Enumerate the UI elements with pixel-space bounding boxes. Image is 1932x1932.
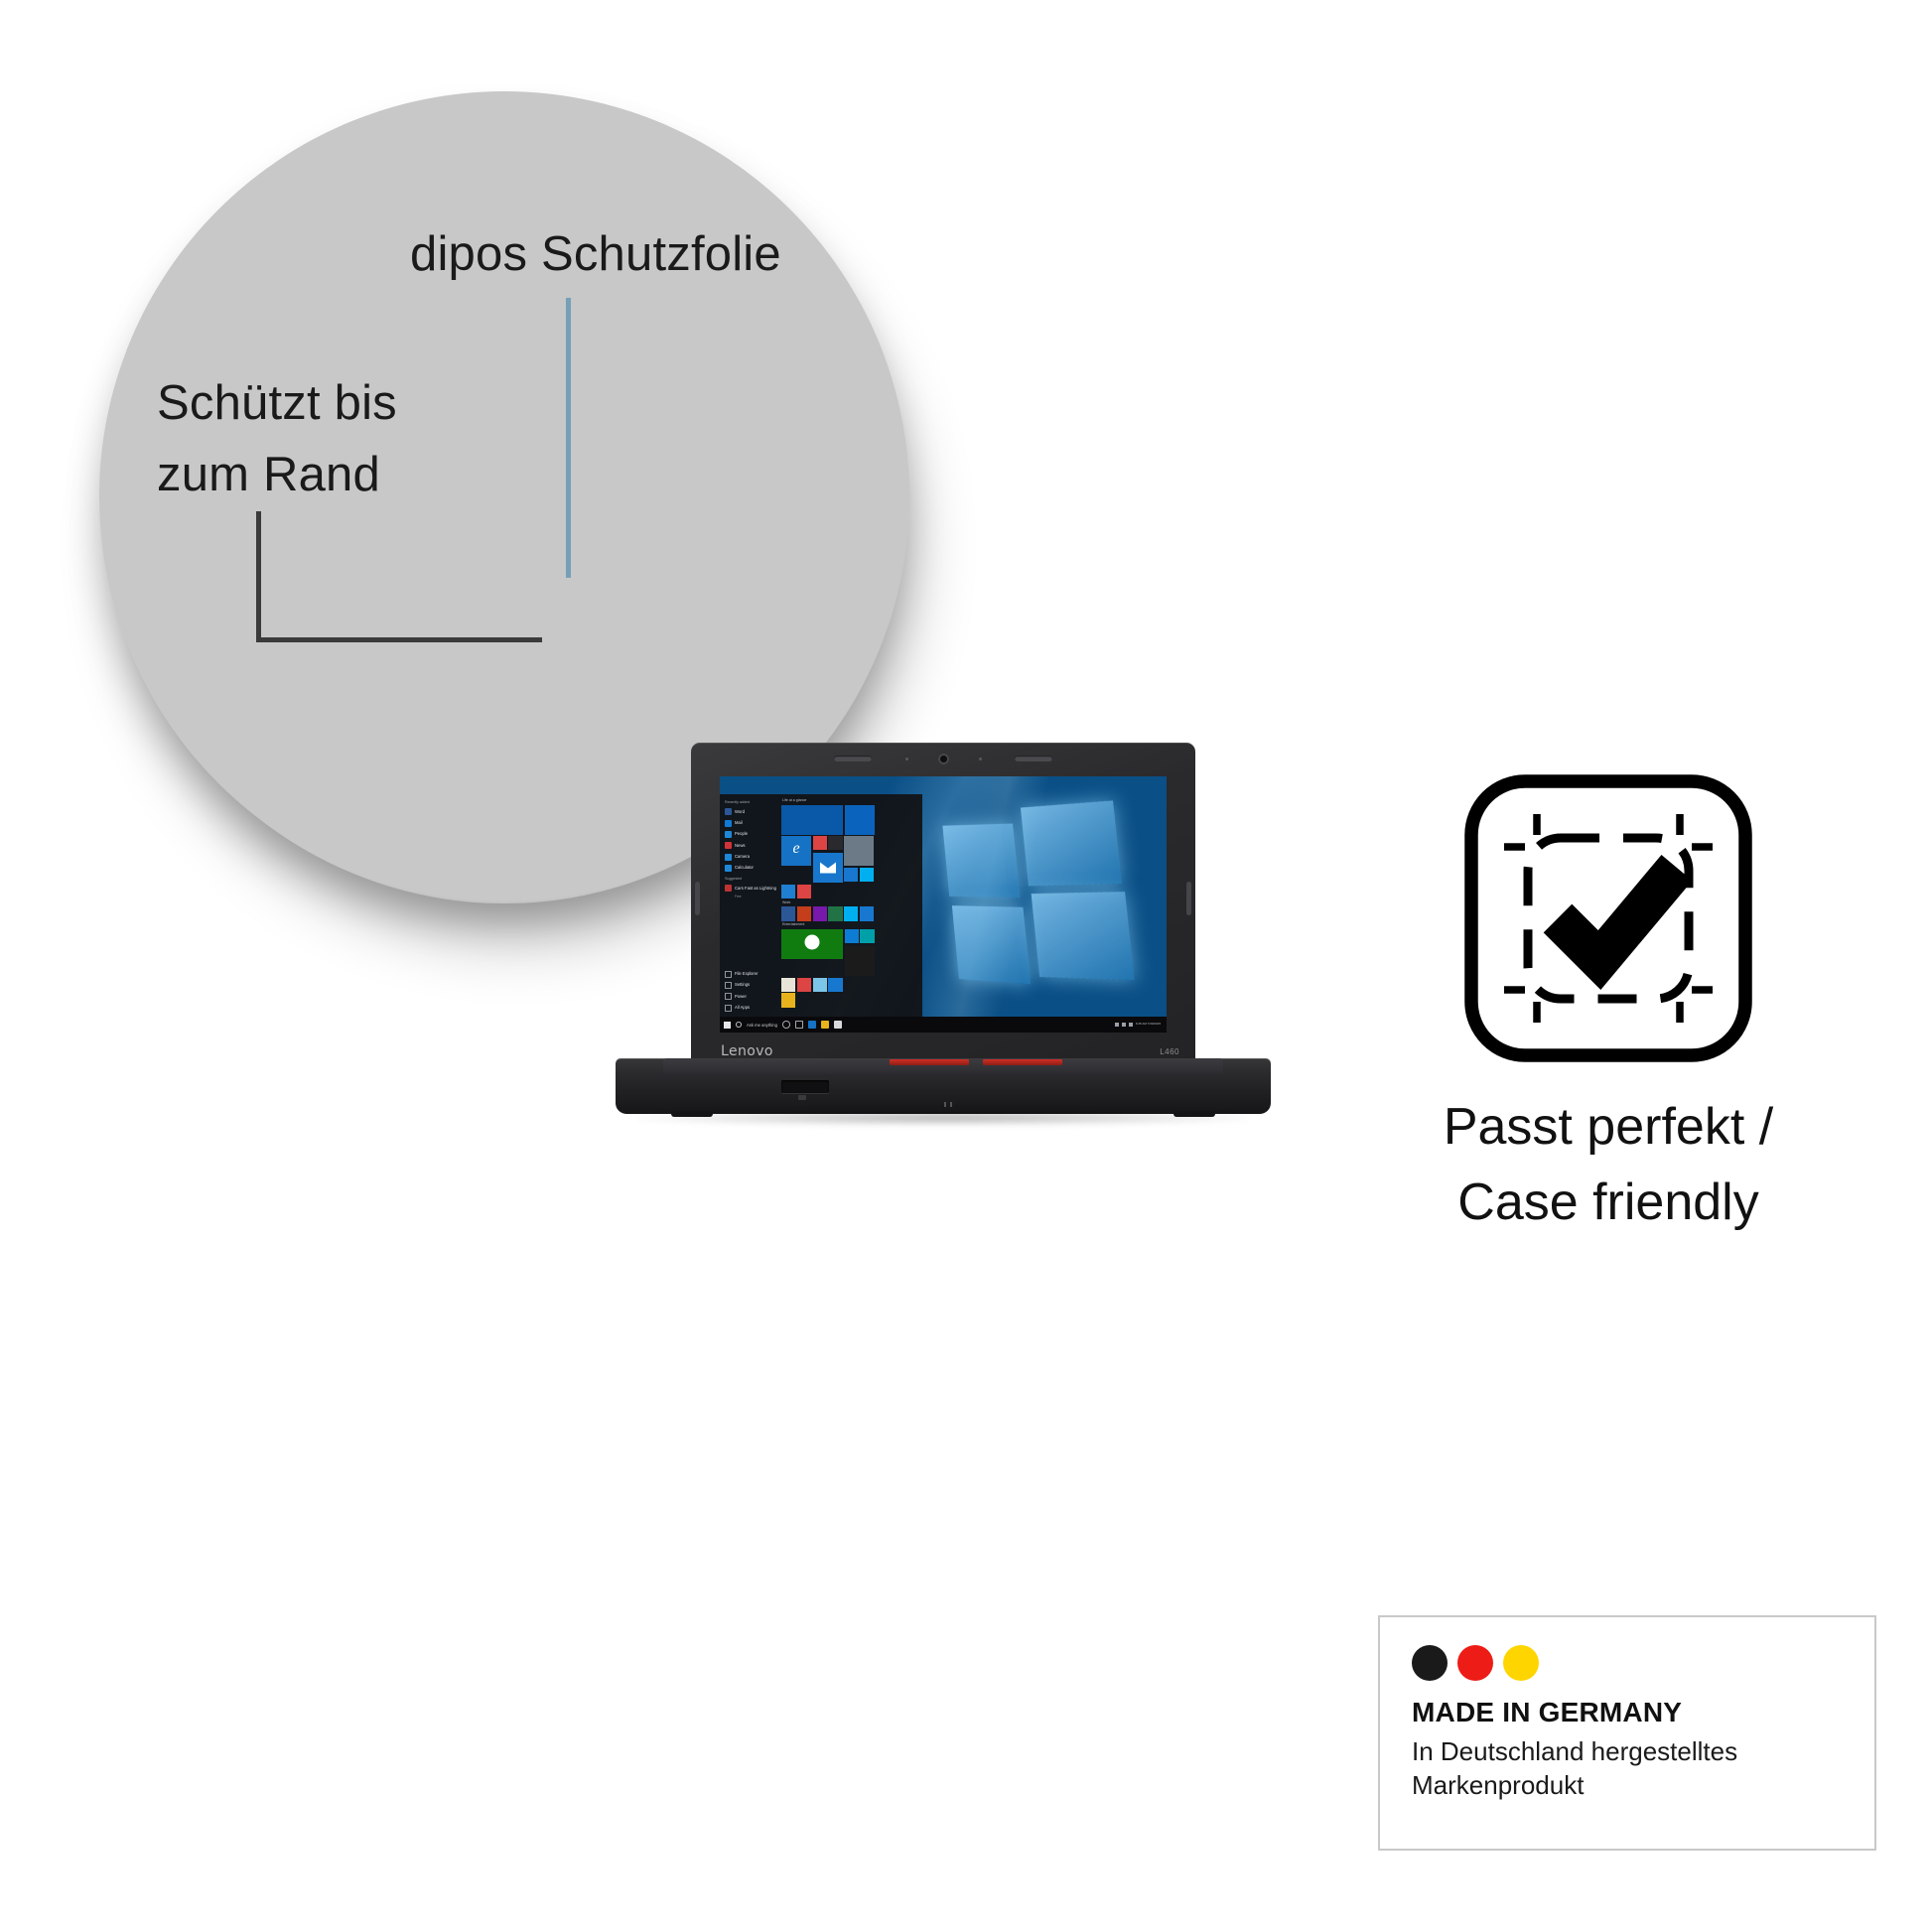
tile-contact[interactable] bbox=[797, 885, 811, 898]
folder-icon bbox=[725, 971, 732, 978]
tile-xbox[interactable] bbox=[781, 929, 843, 959]
tile-row[interactable] bbox=[781, 885, 919, 898]
laptop-base bbox=[616, 1058, 1271, 1114]
lid-vent-right bbox=[1015, 756, 1052, 761]
tile-photos[interactable] bbox=[844, 836, 874, 866]
lenovo-logo: Lenovo bbox=[721, 1043, 773, 1059]
start-menu-tiles[interactable]: Life at a glance e bbox=[777, 794, 922, 1017]
tile-microsoft-edge[interactable]: e bbox=[781, 836, 811, 866]
edge-icon: e bbox=[792, 840, 799, 858]
tile-people[interactable] bbox=[781, 885, 795, 898]
tile-row[interactable] bbox=[781, 805, 919, 835]
cortana-icon[interactable] bbox=[782, 1021, 790, 1029]
side-vent-right bbox=[1186, 882, 1191, 915]
tile-row[interactable] bbox=[844, 868, 874, 882]
start-suggested-item[interactable]: Cars Fast as Lightning bbox=[720, 883, 777, 894]
lid-vent-left bbox=[834, 756, 872, 761]
leader-line-blue bbox=[566, 298, 571, 578]
tile-cortana-welcome[interactable] bbox=[781, 805, 843, 835]
card-reader-slot bbox=[781, 1080, 829, 1093]
yellow-dot bbox=[1503, 1645, 1539, 1681]
gear-icon bbox=[725, 982, 732, 989]
tray-battery-icon[interactable] bbox=[1129, 1023, 1133, 1027]
xbox-icon bbox=[805, 935, 820, 950]
tile-row[interactable] bbox=[781, 906, 919, 920]
search-icon[interactable] bbox=[736, 1022, 742, 1028]
word-icon bbox=[725, 808, 732, 815]
touchpad-accent-right bbox=[983, 1059, 1062, 1065]
tile-row[interactable] bbox=[781, 993, 919, 1007]
start-suggested-label: Cars Fast as Lightning bbox=[735, 887, 776, 891]
start-section-suggested: Suggested bbox=[720, 874, 777, 883]
tile-column[interactable] bbox=[844, 836, 874, 883]
people-icon bbox=[725, 831, 732, 838]
start-app-label: Mail bbox=[735, 821, 743, 825]
tile-disney[interactable] bbox=[828, 978, 842, 992]
tile-row[interactable]: e bbox=[781, 836, 919, 883]
camera-icon bbox=[725, 854, 732, 861]
case-friendly-label: Passt perfekt / Case friendly bbox=[1320, 1089, 1896, 1240]
mail-icon bbox=[725, 820, 732, 827]
webcam-icon bbox=[938, 754, 949, 764]
status-led-left bbox=[944, 1102, 946, 1107]
tile-group-title: Entertainment bbox=[782, 922, 919, 926]
start-button-icon[interactable] bbox=[724, 1022, 731, 1029]
case-friendly-feature: Passt perfekt / Case friendly bbox=[1320, 769, 1896, 1240]
edge-protection-label: Schützt bis zum Rand bbox=[157, 367, 397, 510]
tile-game-2[interactable] bbox=[781, 993, 795, 1007]
tile-word[interactable] bbox=[781, 906, 795, 920]
start-app-people[interactable]: People bbox=[720, 829, 777, 840]
tile-mail[interactable] bbox=[813, 853, 843, 883]
start-app-label: Camera bbox=[735, 855, 750, 859]
tray-volume-icon[interactable] bbox=[1122, 1023, 1126, 1027]
start-app-calculator[interactable]: Calculator bbox=[720, 863, 777, 874]
tile-halo[interactable] bbox=[845, 946, 875, 976]
tile-row[interactable] bbox=[845, 929, 875, 943]
tile-row[interactable] bbox=[781, 978, 919, 992]
system-tray[interactable]: 9:45 AM 7/30/2015 bbox=[1115, 1023, 1163, 1027]
side-vent-left bbox=[695, 882, 700, 915]
product-label: dipos Schutzfolie bbox=[410, 226, 781, 282]
windows-pane bbox=[1032, 892, 1135, 980]
tile-row[interactable] bbox=[781, 929, 919, 976]
laptop-product-image: Recently added Word Mail People bbox=[616, 743, 1271, 1130]
start-menu-system-list[interactable]: File Explorer Settings Power All Ap bbox=[720, 969, 777, 1018]
start-app-camera[interactable]: Camera bbox=[720, 852, 777, 863]
windows-logo-icon bbox=[942, 796, 1134, 990]
start-section-title: Recently added bbox=[720, 797, 777, 806]
game-icon bbox=[725, 885, 732, 892]
start-suggested-price: Free bbox=[720, 895, 777, 898]
tile-movies[interactable] bbox=[860, 929, 874, 943]
tile-frozen[interactable] bbox=[813, 978, 827, 992]
laptop-lid: Recently added Word Mail People bbox=[691, 743, 1195, 1072]
envelope-icon bbox=[820, 862, 836, 873]
laptop-bezel-top bbox=[691, 743, 1195, 772]
start-system-label: File Explorer bbox=[735, 972, 759, 976]
windows-pane bbox=[1021, 800, 1122, 886]
red-dot bbox=[1457, 1645, 1493, 1681]
search-input[interactable]: Ask me anything bbox=[747, 1023, 777, 1028]
tile-column[interactable] bbox=[845, 929, 875, 976]
edge-taskbar-icon[interactable] bbox=[808, 1021, 816, 1029]
start-file-explorer[interactable]: File Explorer bbox=[720, 969, 777, 980]
tile-weather[interactable] bbox=[828, 836, 842, 850]
taskbar-clock[interactable]: 9:45 AM 7/30/2015 bbox=[1136, 1023, 1161, 1026]
windows-pane bbox=[952, 905, 1031, 984]
start-settings[interactable]: Settings bbox=[720, 980, 777, 991]
power-icon bbox=[725, 993, 732, 1000]
start-app-label: News bbox=[735, 844, 745, 848]
microphone-right-icon bbox=[979, 758, 982, 760]
made-in-germany-title: MADE IN GERMANY bbox=[1412, 1697, 1874, 1728]
windows-pane bbox=[942, 824, 1020, 898]
task-view-icon[interactable] bbox=[795, 1021, 803, 1029]
tile-column[interactable] bbox=[813, 836, 843, 883]
start-menu-app-list[interactable]: Recently added Word Mail People bbox=[720, 794, 777, 1017]
status-led-right bbox=[950, 1102, 952, 1107]
german-flag-dots bbox=[1412, 1645, 1874, 1681]
tile-office[interactable] bbox=[844, 868, 858, 882]
tile-candy-crush[interactable] bbox=[781, 978, 795, 992]
made-in-germany-badge: MADE IN GERMANY In Deutschland hergestel… bbox=[1378, 1615, 1876, 1851]
start-app-label: Calculator bbox=[735, 866, 754, 870]
tile-store[interactable] bbox=[860, 906, 874, 920]
tile-game[interactable] bbox=[797, 978, 811, 992]
start-app-word[interactable]: Word bbox=[720, 806, 777, 817]
card-slot-icon bbox=[798, 1095, 806, 1100]
tile-twitter[interactable] bbox=[860, 868, 874, 882]
start-app-mail[interactable]: Mail bbox=[720, 817, 777, 828]
tile-cortana-calendar[interactable] bbox=[845, 805, 875, 835]
laptop-drop-shadow bbox=[637, 1110, 1249, 1126]
tile-groove[interactable] bbox=[845, 929, 859, 943]
calculator-icon bbox=[725, 865, 732, 872]
store-icon[interactable] bbox=[834, 1021, 842, 1029]
laptop-model-label: L460 bbox=[1160, 1047, 1179, 1056]
tile-row[interactable] bbox=[813, 836, 843, 850]
laptop-screen: Recently added Word Mail People bbox=[720, 776, 1167, 1033]
tile-news[interactable] bbox=[813, 836, 827, 850]
start-app-label: Word bbox=[735, 810, 745, 814]
tile-excel[interactable] bbox=[828, 906, 842, 920]
start-app-news[interactable]: News bbox=[720, 840, 777, 851]
tray-network-icon[interactable] bbox=[1115, 1023, 1119, 1027]
start-menu[interactable]: Recently added Word Mail People bbox=[720, 794, 922, 1017]
start-power[interactable]: Power bbox=[720, 991, 777, 1002]
microphone-left-icon bbox=[905, 758, 908, 760]
start-app-label: People bbox=[735, 832, 748, 836]
windows-taskbar[interactable]: Ask me anything 9:45 AM 7/30/2015 bbox=[720, 1017, 1167, 1033]
tile-group-title: Life at a glance bbox=[782, 798, 919, 802]
tile-powerpoint[interactable] bbox=[797, 906, 811, 920]
black-dot bbox=[1412, 1645, 1448, 1681]
list-icon bbox=[725, 1005, 732, 1012]
laptop-keyboard-deck bbox=[663, 1058, 1223, 1074]
start-all-apps[interactable]: All Apps bbox=[720, 1003, 777, 1014]
file-explorer-icon[interactable] bbox=[821, 1021, 829, 1029]
case-friendly-checkmark-icon bbox=[1459, 769, 1757, 1067]
tile-onenote[interactable] bbox=[813, 906, 827, 920]
corner-bracket-indicator bbox=[256, 511, 542, 642]
tile-skype[interactable] bbox=[844, 906, 858, 920]
start-system-label: Power bbox=[735, 995, 747, 999]
news-icon bbox=[725, 842, 732, 849]
start-system-label: All Apps bbox=[735, 1006, 750, 1010]
touchpad-accent-left bbox=[890, 1059, 969, 1065]
start-system-label: Settings bbox=[735, 983, 750, 987]
tile-group-title: Work bbox=[782, 900, 919, 904]
made-in-germany-subtitle: In Deutschland hergestelltes Markenprodu… bbox=[1412, 1734, 1874, 1802]
